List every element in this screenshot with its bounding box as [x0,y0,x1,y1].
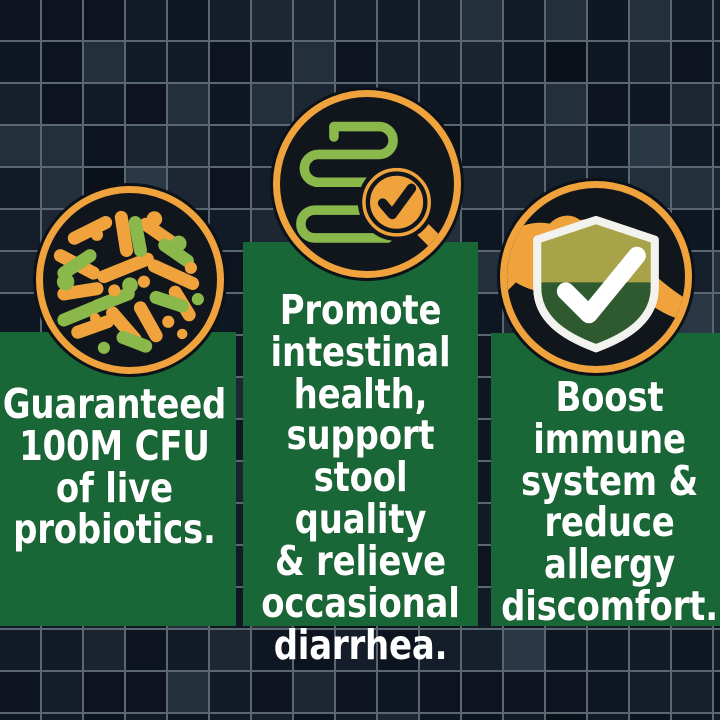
mosaic-tile [252,714,292,720]
mosaic-tile [630,84,670,124]
mosaic-tile [378,672,418,712]
mosaic-tile [588,0,628,40]
mosaic-tile [0,630,40,670]
mosaic-tile [378,714,418,720]
mosaic-tile [42,84,82,124]
mosaic-tile [630,714,670,720]
mosaic-tile [84,630,124,670]
mosaic-tile [168,714,208,720]
mosaic-tile [504,672,544,712]
mosaic-tile [546,42,586,82]
intestine-magnifier-glyph [280,97,454,271]
mosaic-tile [252,0,292,40]
mosaic-tile [546,126,586,166]
mosaic-tile [714,714,720,720]
mosaic-tile [420,42,460,82]
mosaic-tile [714,168,720,208]
mosaic-tile [672,84,712,124]
mosaic-tile [84,672,124,712]
mosaic-tile [672,126,712,166]
mosaic-tile [0,126,40,166]
mosaic-tile [462,126,502,166]
mosaic-tile [714,126,720,166]
mosaic-tile [462,84,502,124]
mosaic-tile [126,84,166,124]
mosaic-tile [126,630,166,670]
mosaic-tile [546,672,586,712]
mosaic-tile [126,714,166,720]
mosaic-tile [0,252,40,292]
mosaic-tile [0,672,40,712]
mosaic-tile [336,42,376,82]
mosaic-tile [378,0,418,40]
mosaic-tile [546,84,586,124]
mosaic-tile [714,630,720,670]
benefit-text-digestive: Promote intestinal health, support stool… [252,242,468,666]
probiotic-bacteria-glyph [43,193,217,367]
mosaic-tile [714,84,720,124]
mosaic-tile [336,0,376,40]
mosaic-tile [168,42,208,82]
mosaic-tile [168,84,208,124]
mosaic-tile [462,0,502,40]
mosaic-tile [672,168,712,208]
mosaic-tile [504,714,544,720]
mosaic-tile [210,84,250,124]
mosaic-tile [252,42,292,82]
mosaic-tile [294,714,334,720]
mosaic-tile [126,42,166,82]
mosaic-tile [714,294,720,334]
mosaic-tile [588,714,628,720]
mosaic-tile [210,126,250,166]
mosaic-tile [504,0,544,40]
mosaic-tile [714,210,720,250]
mosaic-tile [42,0,82,40]
mosaic-tile [546,714,586,720]
mosaic-tile [672,714,712,720]
mosaic-tile [0,294,40,334]
mosaic-tile [84,42,124,82]
mosaic-tile [0,168,40,208]
mosaic-tile [294,0,334,40]
mosaic-tile [168,126,208,166]
mosaic-tile [504,42,544,82]
mosaic-tile [504,630,544,670]
mosaic-tile [462,714,502,720]
mosaic-tile [168,0,208,40]
mosaic-tile [0,714,40,720]
mosaic-tile [672,672,712,712]
mosaic-tile [0,0,40,40]
shield-icon [534,216,662,348]
mosaic-tile [504,84,544,124]
mosaic-tile [168,630,208,670]
mosaic-tile [126,126,166,166]
mosaic-tile [462,168,502,208]
mosaic-tile [336,672,376,712]
mosaic-tile [420,672,460,712]
mosaic-tile [210,630,250,670]
mosaic-tile [672,630,712,670]
probiotic-bacteria-icon [36,186,224,374]
benefit-panel-immune: Boost immune system & reduce allergy dis… [491,333,720,626]
mosaic-tile [294,42,334,82]
mosaic-tile [630,672,670,712]
mosaic-tile [126,0,166,40]
mosaic-tile [462,672,502,712]
mosaic-tile [336,714,376,720]
mosaic-tile [210,714,250,720]
mosaic-tile [378,42,418,82]
mosaic-tile [42,126,82,166]
mosaic-tile [42,630,82,670]
intestine-magnifier-check-icon [273,90,461,278]
mosaic-tile [714,0,720,40]
mosaic-tile [672,0,712,40]
mosaic-tile [420,714,460,720]
mosaic-tile [546,0,586,40]
mosaic-tile [42,42,82,82]
mosaic-tile [672,42,712,82]
benefit-panel-digestive: Promote intestinal health, support stool… [243,242,478,626]
mosaic-tile [210,0,250,40]
mosaic-tile [630,126,670,166]
mosaic-tile [504,126,544,166]
mosaic-tile [588,672,628,712]
mosaic-tile [42,672,82,712]
mosaic-tile [714,42,720,82]
mosaic-tile [210,672,250,712]
mosaic-tile [168,672,208,712]
mosaic-tile [252,672,292,712]
mosaic-tile [714,252,720,292]
mosaic-tile [588,630,628,670]
mosaic-tile [714,672,720,712]
mosaic-tile [0,84,40,124]
product-benefits-infographic: Guaranteed 100M CFU of live probiotics. … [0,0,720,720]
mosaic-tile [546,630,586,670]
mosaic-tile [252,84,292,124]
mosaic-tile [630,42,670,82]
mosaic-tile [84,714,124,720]
mosaic-tile [0,210,40,250]
mosaic-tile [294,672,334,712]
benefit-panel-probiotics: Guaranteed 100M CFU of live probiotics. [0,332,236,626]
mosaic-tile [210,168,250,208]
mosaic-tile [588,42,628,82]
mosaic-tile [420,0,460,40]
mosaic-tile [84,0,124,40]
mosaic-tile [84,84,124,124]
mosaic-tile [0,42,40,82]
mosaic-tile [126,672,166,712]
mosaic-tile [588,84,628,124]
mosaic-tile [630,0,670,40]
mosaic-tile [630,630,670,670]
mosaic-tile [462,42,502,82]
mosaic-tile [42,714,82,720]
dog-shield-glyph [507,188,685,366]
mosaic-tile [84,126,124,166]
dog-shield-check-icon [500,181,692,373]
mosaic-tile [588,126,628,166]
mosaic-tile [210,42,250,82]
benefit-text-immune: Boost immune system & reduce allergy dis… [500,333,718,628]
